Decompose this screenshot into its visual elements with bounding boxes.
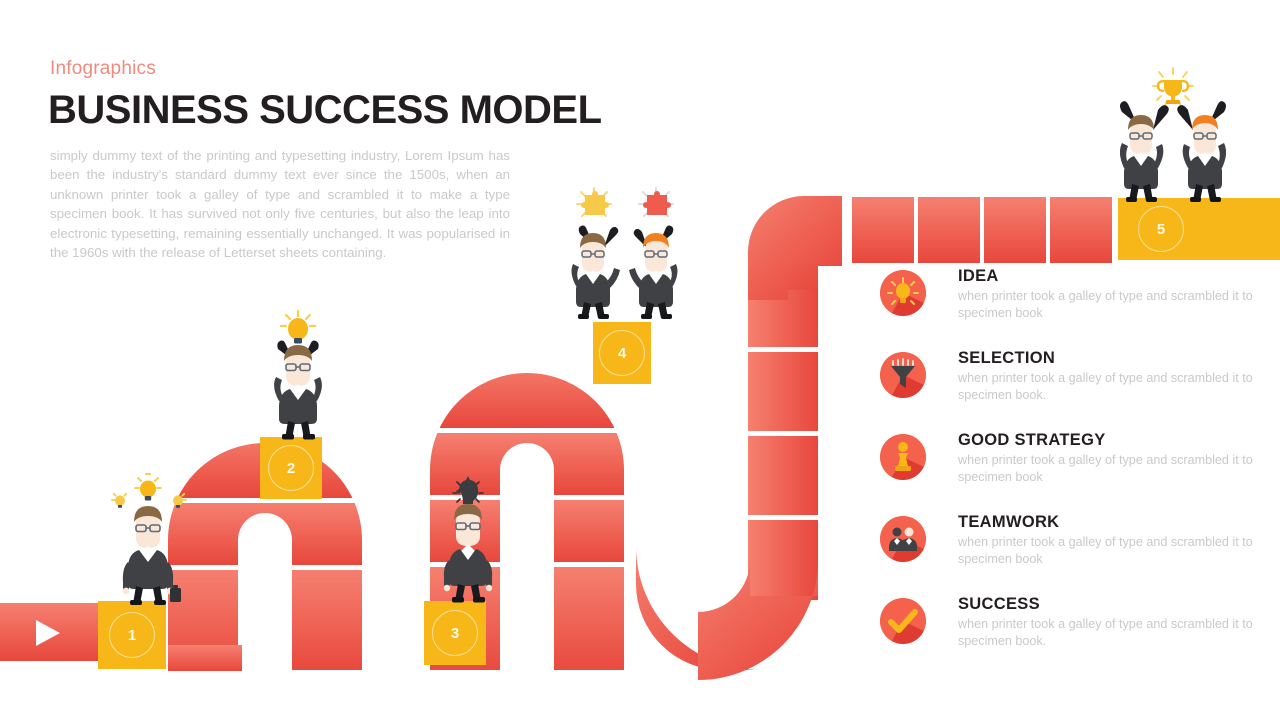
legend-desc: when printer took a galley of type and s…	[958, 616, 1270, 650]
step-tile-2[interactable]: 2	[260, 437, 322, 499]
puzzle-piece-yellow-icon	[577, 188, 611, 216]
legend-title: SUCCESS	[958, 594, 1270, 614]
step-number-1: 1	[109, 612, 155, 658]
businessman-right	[629, 226, 677, 320]
businessman-left	[572, 226, 620, 320]
step-number-4: 4	[599, 330, 645, 376]
legend-item-idea[interactable]: IDEA when printer took a galley of type …	[880, 266, 1270, 331]
figure-step-5	[1098, 58, 1248, 206]
figure-step-2	[248, 305, 348, 440]
road-curve-top-right	[748, 196, 842, 300]
legend-item-teamwork[interactable]: TEAMWORK when printer took a galley of t…	[880, 512, 1270, 577]
lightbulb-raised-icon	[281, 311, 315, 344]
figure-step-4	[552, 178, 702, 328]
legend-list: IDEA when printer took a galley of type …	[880, 266, 1270, 676]
step-tile-1[interactable]: 1	[98, 601, 166, 669]
legend-title: IDEA	[958, 266, 1270, 286]
lightbulb-icon	[880, 270, 926, 316]
chess-pawn-icon	[880, 434, 926, 480]
businessman-body	[123, 506, 181, 605]
legend-item-success[interactable]: SUCCESS when printer took a galley of ty…	[880, 594, 1270, 659]
road-start-block	[0, 603, 98, 661]
funnel-icon	[880, 352, 926, 398]
businessman-body	[274, 341, 322, 440]
step-tile-3[interactable]: 3	[424, 601, 486, 665]
trophy-icon	[1153, 68, 1193, 106]
legend-item-good-strategy[interactable]: GOOD STRATEGY when printer took a galley…	[880, 430, 1270, 495]
step-tile-4[interactable]: 4	[593, 322, 651, 384]
road-top-blocks	[852, 197, 1112, 263]
people-icon	[880, 516, 926, 562]
figure-step-1	[92, 470, 204, 605]
legend-desc: when printer took a galley of type and s…	[958, 534, 1270, 568]
businessman-body	[444, 504, 492, 603]
checkmark-icon	[880, 598, 926, 644]
slide-canvas: Infographics BUSINESS SUCCESS MODEL simp…	[0, 0, 1280, 720]
legend-title: SELECTION	[958, 348, 1270, 368]
step-number-5: 5	[1138, 206, 1184, 252]
road-bottom-u-left	[292, 640, 430, 672]
step-tile-5[interactable]: 5	[1118, 198, 1280, 260]
legend-desc: when printer took a galley of type and s…	[958, 452, 1270, 486]
lightbulb-trio-icon	[112, 474, 186, 508]
legend-desc: when printer took a galley of type and s…	[958, 370, 1270, 404]
legend-title: TEAMWORK	[958, 512, 1270, 532]
winner-right	[1177, 101, 1226, 202]
figure-step-3	[418, 472, 518, 604]
road-right-column	[748, 290, 818, 600]
legend-title: GOOD STRATEGY	[958, 430, 1270, 450]
step-number-3: 3	[432, 610, 478, 656]
legend-desc: when printer took a galley of type and s…	[958, 288, 1270, 322]
chess-knight-icon	[453, 476, 483, 504]
step-number-2: 2	[268, 445, 314, 491]
puzzle-piece-red-icon	[639, 188, 673, 216]
winner-left	[1120, 101, 1169, 202]
legend-item-selection[interactable]: SELECTION when printer took a galley of …	[880, 348, 1270, 413]
